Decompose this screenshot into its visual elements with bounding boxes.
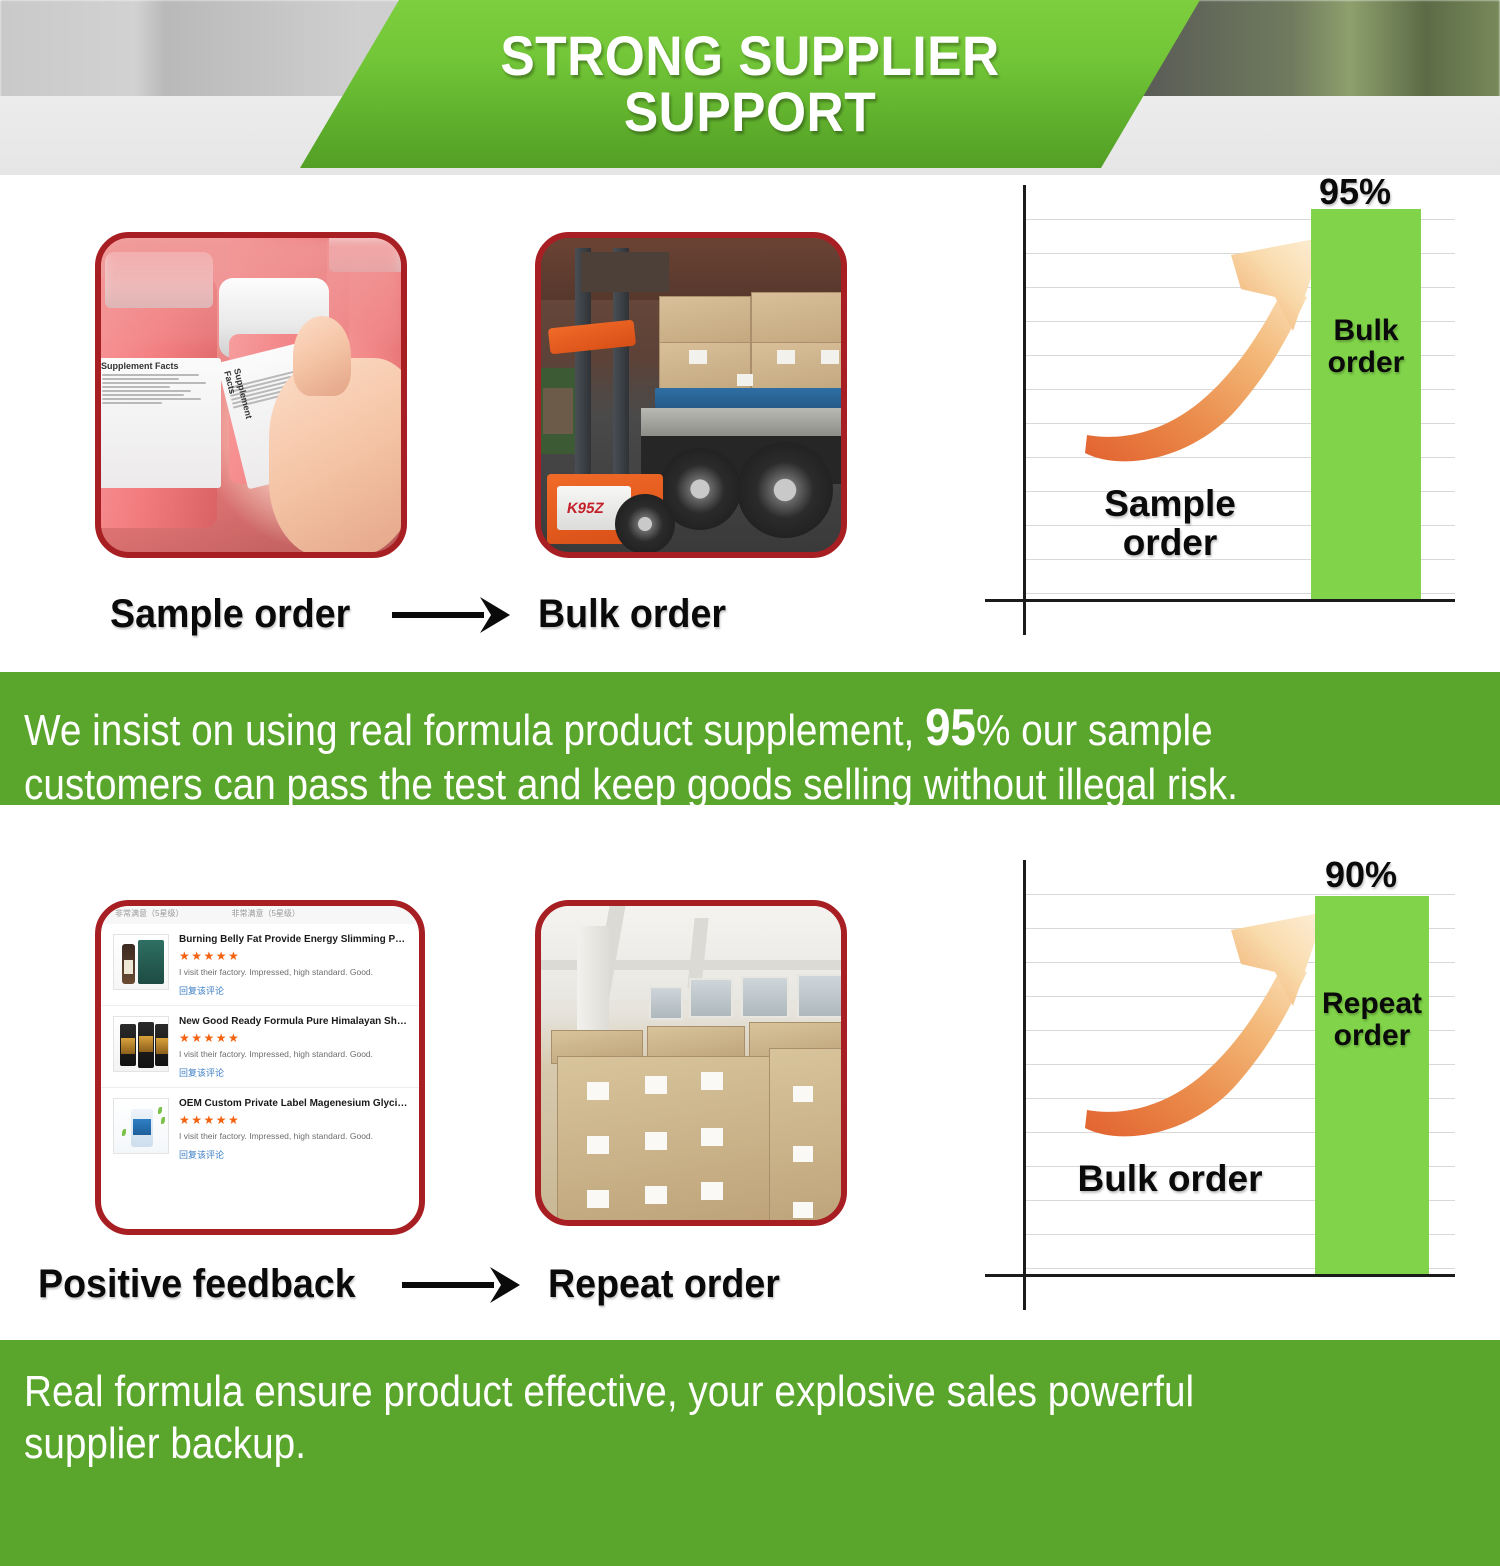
label-positive-feedback: Positive feedback bbox=[38, 1262, 356, 1307]
chart-sample-to-bulk: Bulk order 95% Sample order bbox=[985, 185, 1455, 635]
photo-repeat-order-content bbox=[541, 906, 841, 1220]
bar-label-bulk-order: Bulk order bbox=[1311, 315, 1421, 378]
photo-repeat-order bbox=[535, 900, 847, 1226]
label-row-bottom: Positive feedback Repeat order bbox=[38, 1262, 795, 1307]
review-text: I visit their factory. Impressed, high s… bbox=[179, 967, 409, 977]
review-title: Burning Belly Fat Provide Energy Slimmin… bbox=[179, 934, 409, 945]
review-text: I visit their factory. Impressed, high s… bbox=[179, 1131, 409, 1141]
arrow-right-icon bbox=[402, 1265, 522, 1305]
review-note-2: 非常满意（5星级） bbox=[231, 908, 299, 924]
chart-plot-area: Repeat order 90% Bulk order bbox=[1025, 860, 1455, 1276]
review-text: I visit their factory. Impressed, high s… bbox=[179, 1049, 409, 1059]
base-label-sample-order: Sample order bbox=[1055, 485, 1285, 563]
base-label-bulk-order: Bulk order bbox=[1065, 1160, 1275, 1199]
review-note-1: 非常满意（5星级） bbox=[115, 908, 183, 924]
page-title: STRONG SUPPLIER SUPPORT bbox=[336, 0, 1164, 168]
review-title: New Good Ready Formula Pure Himalayan Sh… bbox=[179, 1016, 409, 1027]
chart-x-axis bbox=[985, 1274, 1455, 1277]
green-band-top-text: We insist on using real formula product … bbox=[24, 698, 1296, 811]
review-reply-link[interactable]: 回复该评论 bbox=[179, 984, 409, 997]
pct-label-90: 90% bbox=[1325, 854, 1397, 896]
review-stars: ★★★★★ bbox=[179, 949, 409, 963]
review-reply-link[interactable]: 回复该评论 bbox=[179, 1148, 409, 1161]
review-thumbnail bbox=[113, 1016, 169, 1072]
header-zone: STRONG SUPPLIER SUPPORT bbox=[0, 0, 1500, 175]
photo-positive-feedback: 非常满意（5星级） 非常满意（5星级） Burning Belly Fat Pr… bbox=[95, 900, 425, 1235]
photo-sample-order: Supplement Facts Supplement Facts bbox=[95, 232, 407, 558]
chart-plot-area: Bulk order 95% Sample order bbox=[1025, 185, 1455, 601]
photo-bulk-order-content: K95Z bbox=[541, 238, 841, 552]
review-stars: ★★★★★ bbox=[179, 1031, 409, 1045]
arrow-right-icon bbox=[392, 595, 512, 635]
chart-x-axis bbox=[985, 599, 1455, 602]
label-bulk-order: Bulk order bbox=[538, 592, 726, 637]
title-line-1: STRONG SUPPLIER bbox=[500, 28, 999, 84]
chart-y-axis bbox=[1023, 185, 1026, 635]
chart-y-axis bbox=[1023, 860, 1026, 1310]
review-item: Burning Belly Fat Provide Energy Slimmin… bbox=[101, 924, 419, 1006]
label-repeat-order: Repeat order bbox=[548, 1262, 780, 1307]
pct-label-95: 95% bbox=[1319, 171, 1391, 213]
review-reply-link[interactable]: 回复该评论 bbox=[179, 1066, 409, 1079]
green-band-top: We insist on using real formula product … bbox=[0, 672, 1500, 805]
bar-repeat-order bbox=[1315, 896, 1429, 1276]
label-row-top: Sample order Bulk order bbox=[110, 592, 738, 637]
title-line-2: SUPPORT bbox=[624, 84, 876, 140]
review-stars: ★★★★★ bbox=[179, 1113, 409, 1127]
review-item: New Good Ready Formula Pure Himalayan Sh… bbox=[101, 1006, 419, 1088]
chart-bulk-to-repeat: Repeat order 90% Bulk order bbox=[985, 860, 1455, 1310]
bar-label-repeat-order: Repeat order bbox=[1309, 988, 1435, 1051]
review-item: OEM Custom Private Label Magenesium Glyc… bbox=[101, 1088, 419, 1169]
review-thumbnail bbox=[113, 1098, 169, 1154]
review-title: OEM Custom Private Label Magenesium Glyc… bbox=[179, 1098, 409, 1109]
photo-sample-order-content: Supplement Facts Supplement Facts bbox=[101, 238, 401, 552]
label-sample-order: Sample order bbox=[110, 592, 350, 637]
review-header-notes: 非常满意（5星级） 非常满意（5星级） bbox=[101, 906, 419, 924]
review-thumbnail bbox=[113, 934, 169, 990]
green-band-bottom: Real formula ensure product effective, y… bbox=[0, 1340, 1500, 1566]
green-band-bottom-text: Real formula ensure product effective, y… bbox=[24, 1366, 1296, 1470]
bar-bulk-order bbox=[1311, 209, 1421, 601]
infographic-page: STRONG SUPPLIER SUPPORT Supplement Facts… bbox=[0, 0, 1500, 1566]
photo-bulk-order: K95Z bbox=[535, 232, 847, 558]
band-top-highlight: 95 bbox=[925, 699, 976, 757]
band-top-before: We insist on using real formula product … bbox=[24, 706, 925, 755]
